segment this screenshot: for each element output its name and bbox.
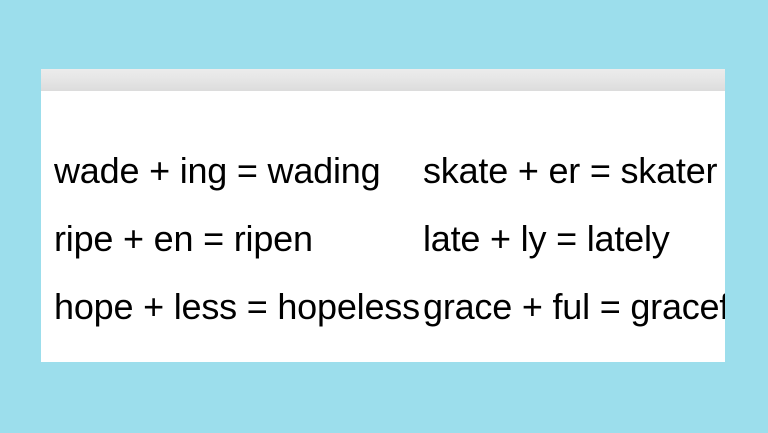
equation-row-3-left: hope + less = hopeless — [54, 289, 423, 325]
equation-row-3-right: grace + ful = graceful — [423, 289, 725, 325]
equation-row-1-left: wade + ing = wading — [54, 153, 423, 189]
word-building-equation-grid: wade + ing = wading skate + er = skater … — [54, 91, 725, 362]
slide-canvas: wade + ing = wading skate + er = skater … — [0, 0, 768, 433]
equation-row-2-left: ripe + en = ripen — [54, 221, 423, 257]
content-card: wade + ing = wading skate + er = skater … — [41, 69, 725, 362]
card-header-bar — [41, 69, 725, 91]
equation-row-1-right: skate + er = skater — [423, 153, 725, 189]
equation-row-2-right: late + ly = lately — [423, 221, 725, 257]
